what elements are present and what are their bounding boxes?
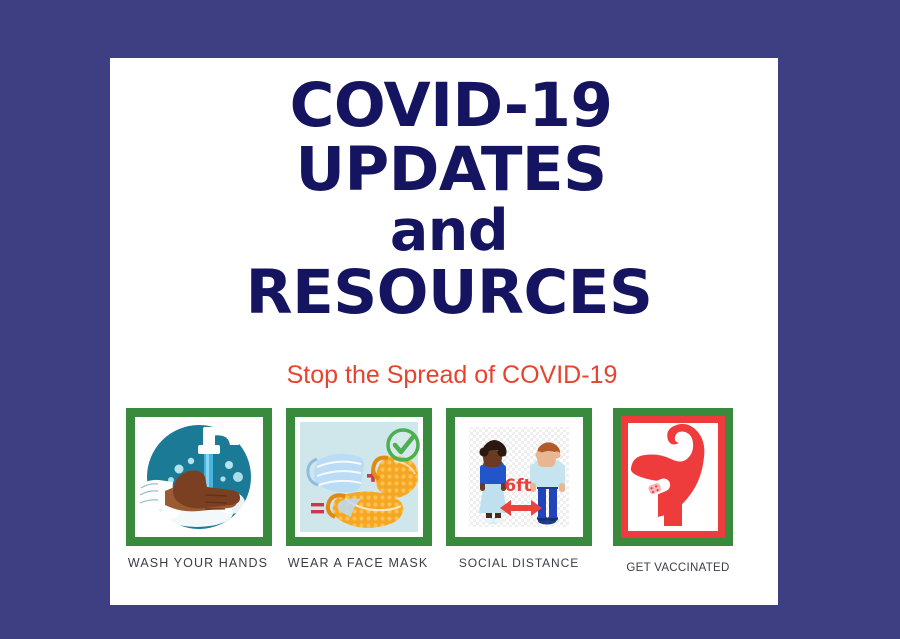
headline-line-3: and xyxy=(120,204,778,260)
social-distance-icon: 6ft xyxy=(455,417,583,537)
panel-frame xyxy=(286,408,432,546)
poster-card: COVID-19 UPDATES and RESOURCES Stop the … xyxy=(110,58,778,605)
panel-label: WEAR A FACE MASK xyxy=(284,556,432,570)
panel-social-distance: 6ft SOCIAL DISTANCE xyxy=(446,408,592,570)
headline-line-4: RESOURCES xyxy=(120,263,778,323)
prevention-panel-row: WASH YOUR HANDS xyxy=(110,408,778,598)
panel-wash-your-hands: WASH YOUR HANDS xyxy=(126,408,272,570)
distance-label: 6ft xyxy=(504,476,531,496)
panel-frame xyxy=(613,408,733,546)
vaccinated-arm-icon xyxy=(621,416,725,538)
panel-frame: 6ft xyxy=(446,408,592,546)
poster-root: COVID-19 UPDATES and RESOURCES Stop the … xyxy=(0,0,900,639)
headline-line-2: UPDATES xyxy=(124,140,778,200)
handwashing-icon xyxy=(135,417,263,537)
panel-wear-a-face-mask: WEAR A FACE MASK xyxy=(286,408,432,570)
subtitle: Stop the Spread of COVID-19 xyxy=(118,361,786,390)
panel-label: GET VACCINATED xyxy=(615,562,741,574)
panel-get-vaccinated: GET VACCINATED xyxy=(613,408,741,574)
panel-frame xyxy=(126,408,272,546)
page-title: COVID-19 UPDATES and RESOURCES xyxy=(110,76,778,323)
headline-line-1: COVID-19 xyxy=(124,76,778,136)
face-mask-icon xyxy=(295,417,423,537)
panel-label: WASH YOUR HANDS xyxy=(124,556,272,570)
panel-label: SOCIAL DISTANCE xyxy=(446,556,592,570)
